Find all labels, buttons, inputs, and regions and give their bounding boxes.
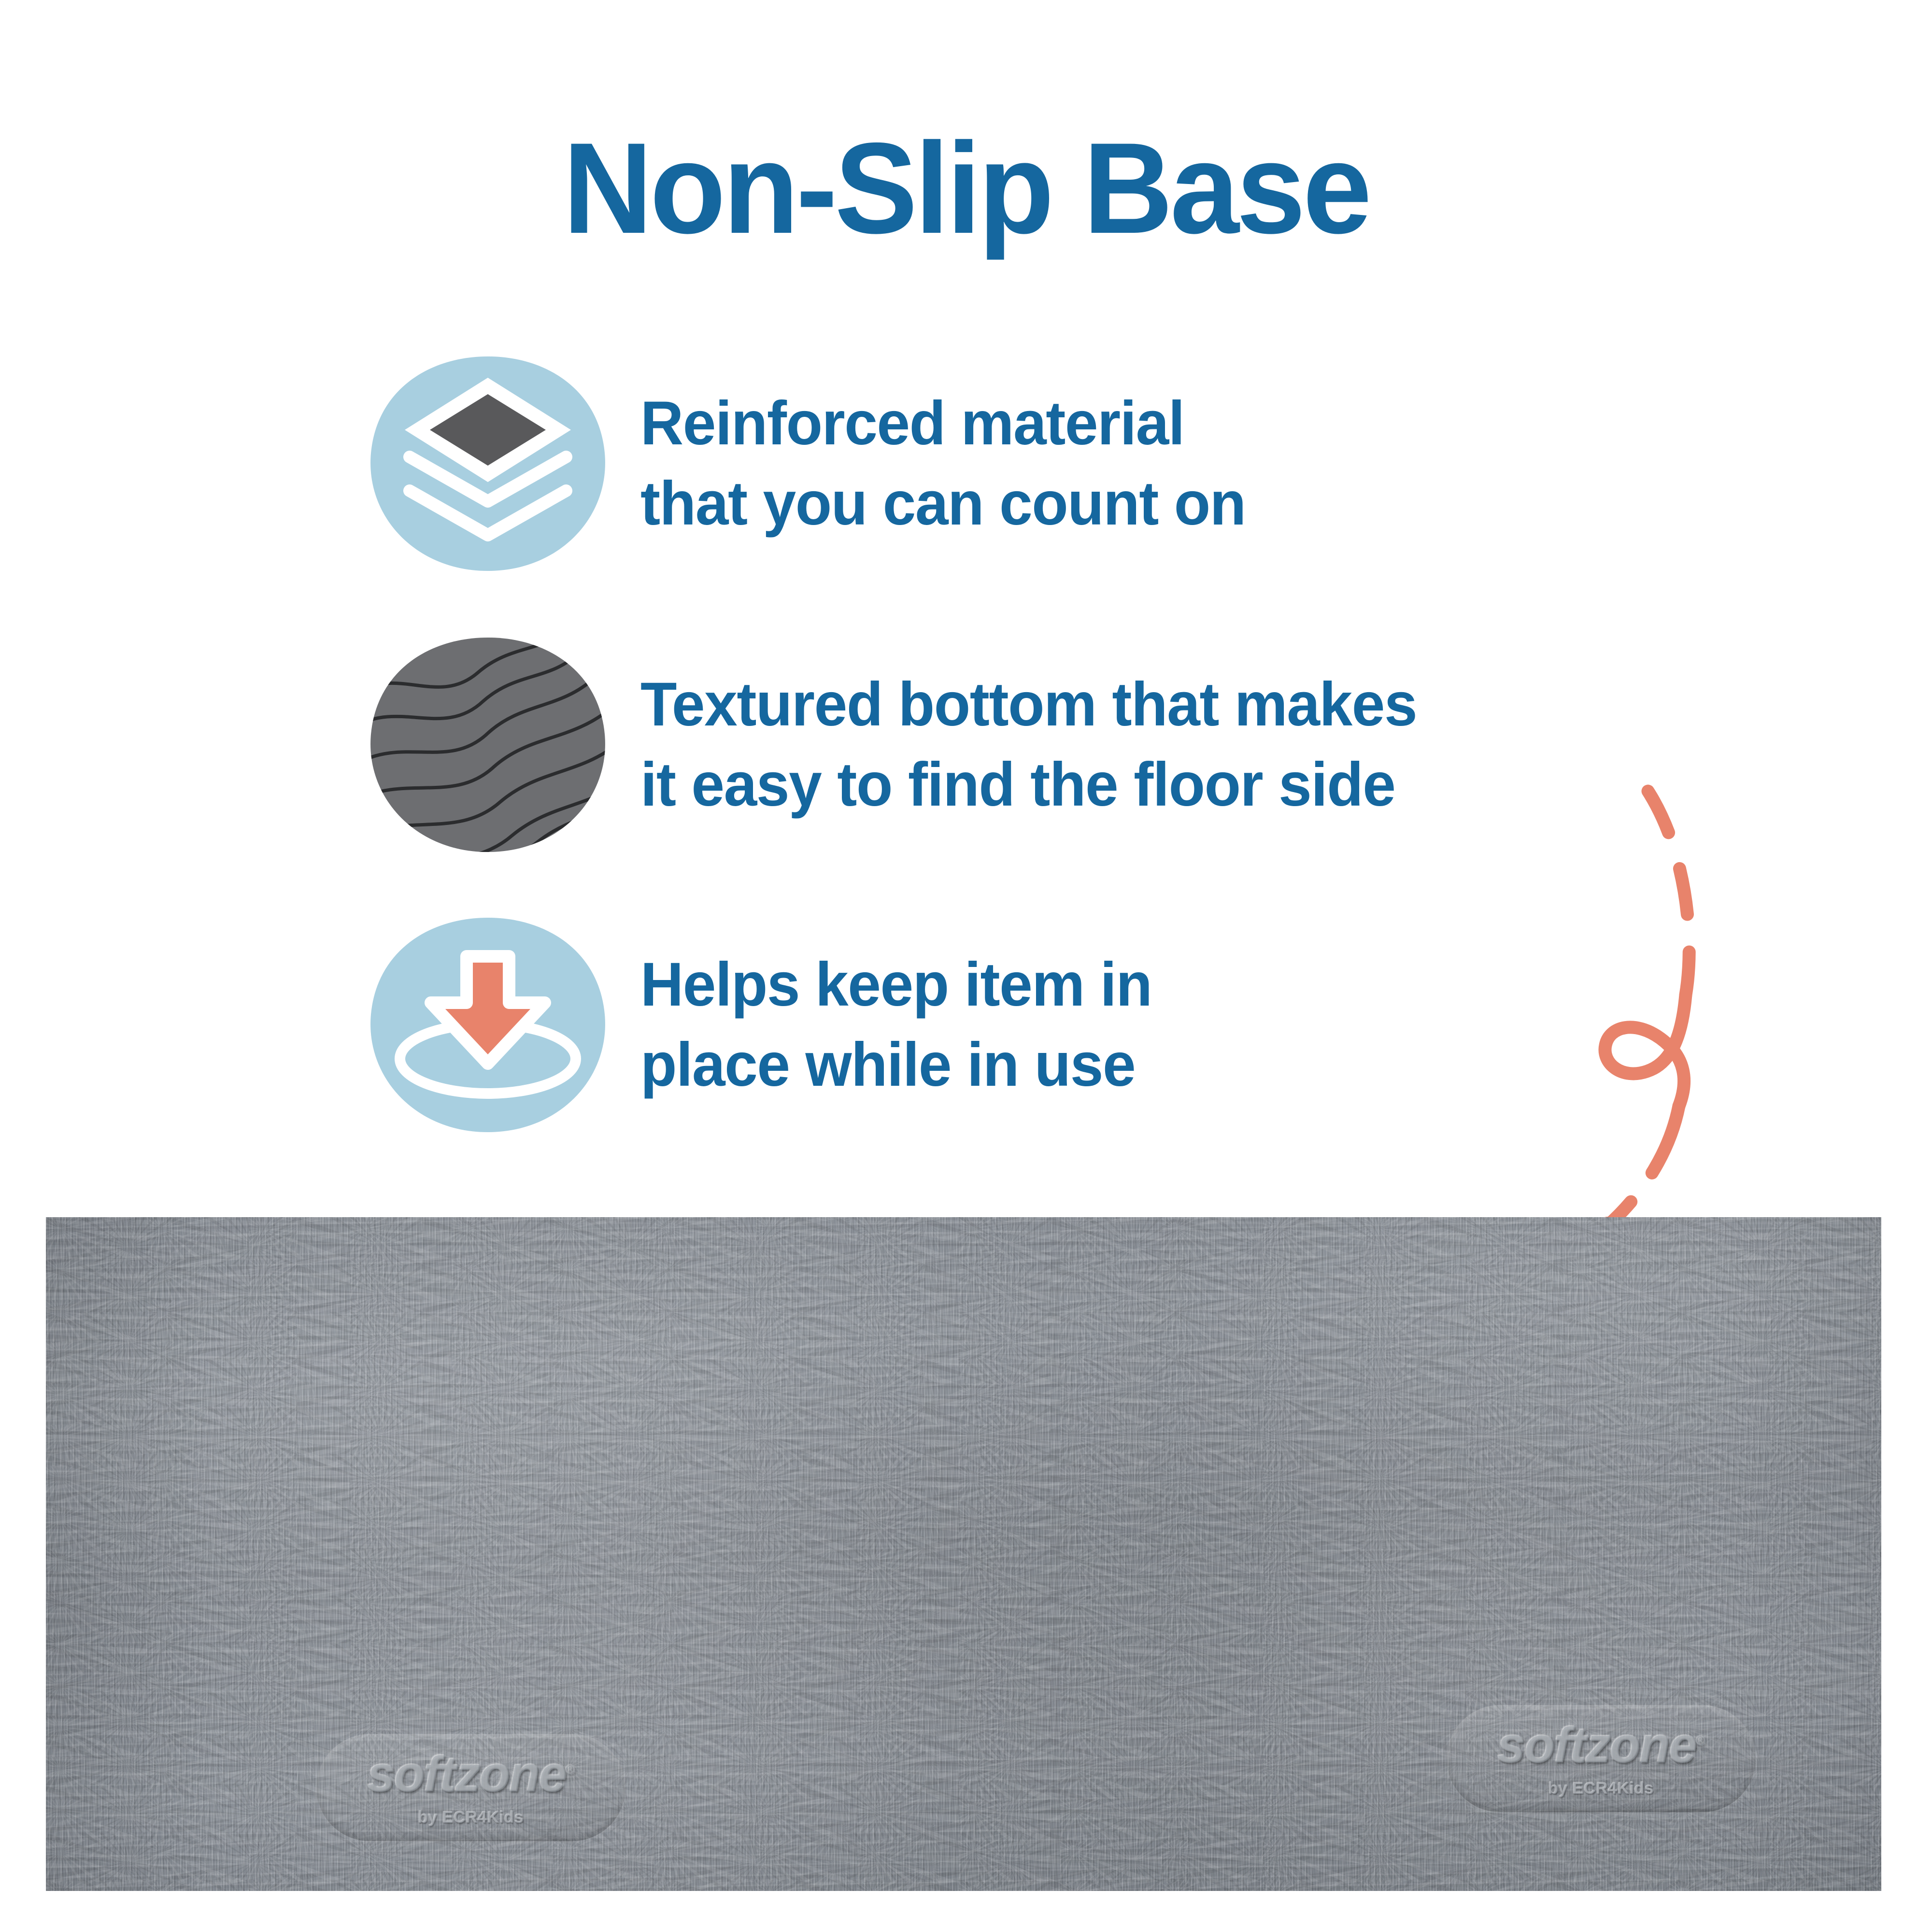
- brand-name: softzone: [1498, 1718, 1697, 1774]
- softzone-logo-plaque: softzone® by ECR4Kids: [1447, 1705, 1756, 1812]
- softzone-logo-plaque: softzone® by ECR4Kids: [316, 1734, 625, 1841]
- textured-surface-icon: [367, 634, 609, 856]
- feature-text: Reinforced material that you can count o…: [640, 384, 1246, 544]
- trademark-symbol: ®: [566, 1762, 574, 1777]
- layers-icon: [367, 353, 609, 575]
- feature-text: Textured bottom that makes it easy to fi…: [640, 665, 1417, 825]
- product-photo-nonslip-base: softzone® by ECR4Kids softzone® by ECR4K…: [46, 1217, 1881, 1891]
- feature-text: Helps keep item in place while in use: [640, 945, 1152, 1106]
- feature-row-reinforced-material: Reinforced material that you can count o…: [367, 353, 1864, 575]
- brand-wordmark: softzone®: [368, 1749, 575, 1800]
- brand-byline: by ECR4Kids: [418, 1809, 524, 1826]
- down-arrow-grip-icon: [367, 914, 609, 1136]
- brand-byline: by ECR4Kids: [1548, 1780, 1654, 1797]
- trademark-symbol: ®: [1696, 1733, 1705, 1748]
- brand-name: softzone: [368, 1747, 567, 1803]
- brand-wordmark: softzone®: [1498, 1720, 1705, 1771]
